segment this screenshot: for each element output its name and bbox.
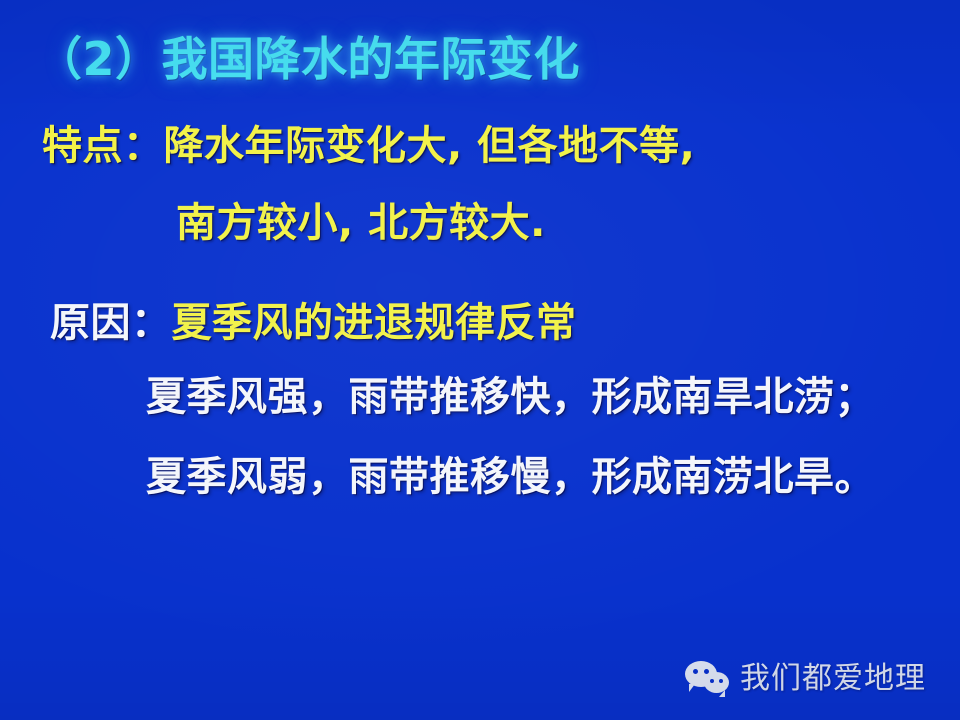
wechat-bubble-tail (689, 684, 695, 692)
effect-line-2: 夏季风弱，雨带推移慢，形成南涝北旱。 (146, 457, 875, 497)
wechat-eye (710, 679, 714, 683)
wechat-eye (719, 679, 723, 683)
wechat-bubble-small (704, 672, 729, 693)
watermark: 我们都爱地理 (685, 660, 926, 698)
page-title: （2）我国降水的年际变化 (36, 36, 580, 82)
wechat-bubble-tail (719, 690, 725, 697)
reason-row: 原因：夏季风的进退规律反常 (50, 303, 577, 343)
watermark-label: 我们都爱地理 (740, 664, 926, 694)
reason-value: 夏季风的进退规律反常 (172, 300, 577, 346)
wechat-icon (685, 660, 731, 698)
reason-label: 原因： (50, 300, 172, 346)
feature-line-1: 特点：降水年际变化大, 但各地不等, (42, 126, 695, 166)
slide-canvas: （2）我国降水的年际变化 特点：降水年际变化大, 但各地不等, 南方较小, 北方… (0, 0, 960, 720)
wechat-eye (693, 669, 698, 674)
feature-line-2: 南方较小, 北方较大. (176, 203, 546, 243)
effect-line-1: 夏季风强，雨带推移快，形成南旱北涝； (146, 377, 875, 417)
